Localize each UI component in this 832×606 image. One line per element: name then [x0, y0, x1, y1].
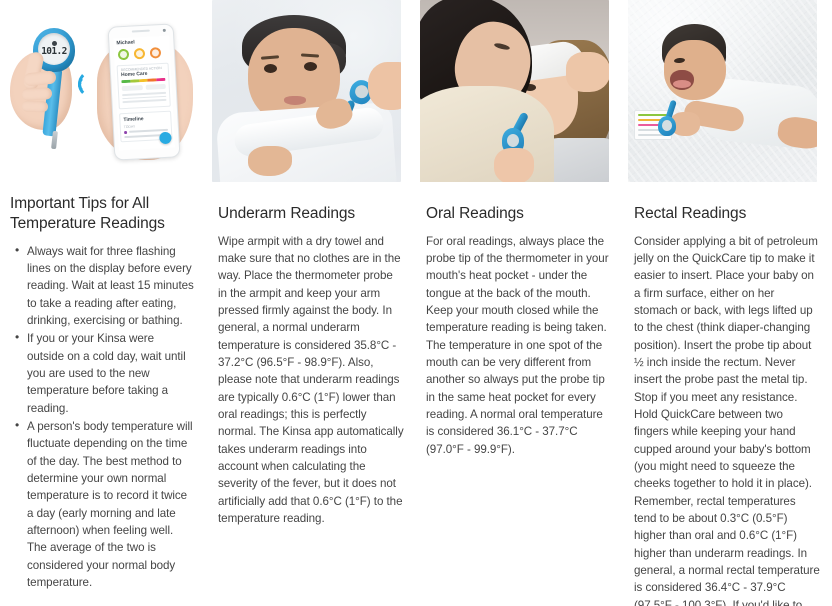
list-item: If you or your Kinsa were outside on a c…: [10, 330, 194, 417]
section-title-underarm: Underarm Readings: [218, 204, 404, 224]
tips-list: Always wait for three flashing lines on …: [10, 243, 194, 592]
phone-add-button[interactable]: [159, 132, 172, 145]
tips-page: 101.2 Michael: [0, 0, 832, 606]
finger-illustration: [22, 87, 53, 101]
phone-card-body-lines: [122, 92, 166, 103]
column-grid: 101.2 Michael: [0, 0, 832, 606]
page-title: Important Tips for All Temperature Readi…: [10, 194, 194, 234]
phone-speaker-icon: [132, 30, 150, 33]
status-ring-icon: [150, 47, 162, 59]
list-item: Always wait for three flashing lines on …: [10, 243, 194, 330]
column-important-tips: 101.2 Michael: [0, 0, 208, 606]
section-body-underarm: Wipe armpit with a dry towel and make su…: [218, 233, 404, 528]
thermometer-tip-icon: [51, 131, 58, 149]
phone-user-name: Michael: [116, 38, 169, 47]
phone-timeline-title: Timeline: [123, 114, 167, 122]
fever-severity-bar: [121, 78, 165, 83]
baby-on-bed-photo: [628, 0, 817, 182]
phone-pill-row: [122, 84, 166, 91]
phone-camera-icon: [163, 29, 166, 32]
thermometer-phone-illustration: 101.2 Michael: [0, 0, 208, 182]
section-body-rectal: Consider applying a bit of petroleum jel…: [634, 233, 820, 606]
phone-status-rings: [118, 47, 171, 61]
column-oral-readings: Oral Readings For oral readings, always …: [416, 0, 624, 606]
section-title-oral: Oral Readings: [426, 204, 612, 224]
column-rectal-readings: Rectal Readings Consider applying a bit …: [624, 0, 832, 606]
mother-child-oral-reading-photo: [420, 0, 609, 182]
finger-illustration: [22, 101, 48, 113]
status-ring-icon: [118, 49, 130, 61]
status-ring-icon: [134, 48, 146, 60]
section-title-rectal: Rectal Readings: [634, 204, 820, 224]
phone-card-title: Home Care: [121, 70, 165, 78]
phone-screen: Michael RECOMMENDED ACTION Home Care: [113, 36, 175, 151]
list-item: A person's body temperature will fluctua…: [10, 418, 194, 591]
section-body-oral: For oral readings, always place the prob…: [426, 233, 612, 458]
column-underarm-readings: Underarm Readings Wipe armpit with a dry…: [208, 0, 416, 606]
phone-home-care-card: RECOMMENDED ACTION Home Care: [117, 63, 171, 109]
smartphone-illustration: Michael RECOMMENDED ACTION Home Care: [108, 23, 181, 160]
thermometer-reading-value: 101.2: [41, 47, 67, 57]
baby-underarm-reading-photo: [212, 0, 401, 182]
